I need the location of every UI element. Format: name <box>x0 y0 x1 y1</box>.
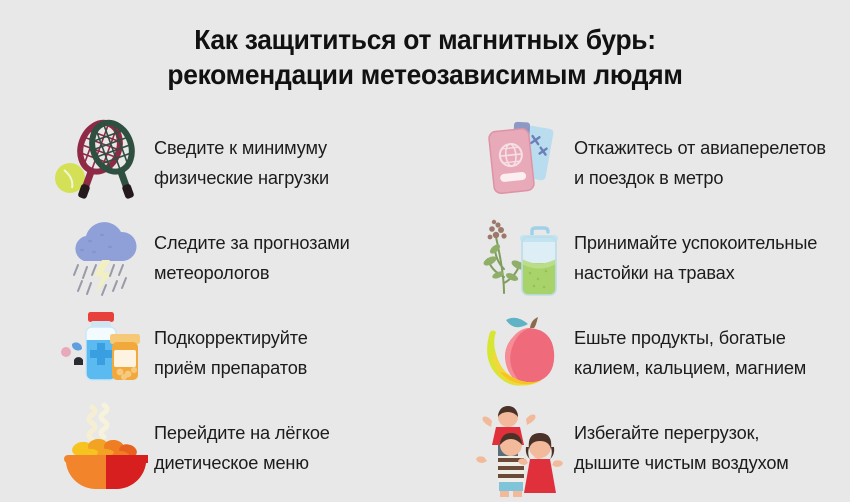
tip-item-watch-forecast: Следите за прогнозами метеорологов <box>0 217 420 312</box>
tip-item-eat-rich-foods: Ешьте продукты, богатые калием, кальцием… <box>420 312 840 407</box>
rain-cloud-icon <box>58 215 154 305</box>
tip-label: Принимайте успокоительные настойки на тр… <box>574 217 817 288</box>
title-line-1: Как защититься от магнитных бурь: <box>17 22 833 57</box>
tip-item-avoid-flights: Откажитесь от авиаперелетов и поездок в … <box>420 122 840 217</box>
tip-item-adjust-medication: Подкорректируйте приём препаратов <box>0 312 420 407</box>
fruits-icon <box>478 310 574 400</box>
tip-label: Следите за прогнозами метеорологов <box>154 217 350 288</box>
tip-label: Откажитесь от авиаперелетов и поездок в … <box>574 122 826 193</box>
tip-item-avoid-overload: Избегайте перегрузок, дышите чистым возд… <box>420 407 840 502</box>
tip-label: Подкорректируйте приём препаратов <box>154 312 308 383</box>
title-line-2: рекомендации метеозависимым людям <box>17 57 833 92</box>
tennis-rackets-icon <box>58 120 154 210</box>
page-title: Как защититься от магнитных бурь: рекоме… <box>0 22 850 92</box>
tip-label: Избегайте перегрузок, дышите чистым возд… <box>574 407 789 478</box>
tip-label: Сведите к минимуму физические нагрузки <box>154 122 329 193</box>
tip-label: Перейдите на лёгкое диетическое меню <box>154 407 330 478</box>
tip-item-reduce-exercise: Сведите к минимуму физические нагрузки <box>0 122 420 217</box>
tips-grid: Сведите к минимуму физические нагрузки <box>0 122 850 502</box>
medicine-bottles-icon <box>58 310 154 400</box>
passport-tickets-icon <box>478 120 574 210</box>
infographic-root: Как защититься от магнитных бурь: рекоме… <box>0 0 850 502</box>
food-bowl-icon <box>58 405 154 495</box>
tip-label: Ешьте продукты, богатые калием, кальцием… <box>574 312 806 383</box>
herbal-drink-icon <box>478 215 574 305</box>
tip-item-light-diet: Перейдите на лёгкое диетическое меню <box>0 407 420 502</box>
children-icon <box>478 405 574 495</box>
tip-item-herbal-tinctures: Принимайте успокоительные настойки на тр… <box>420 217 840 312</box>
